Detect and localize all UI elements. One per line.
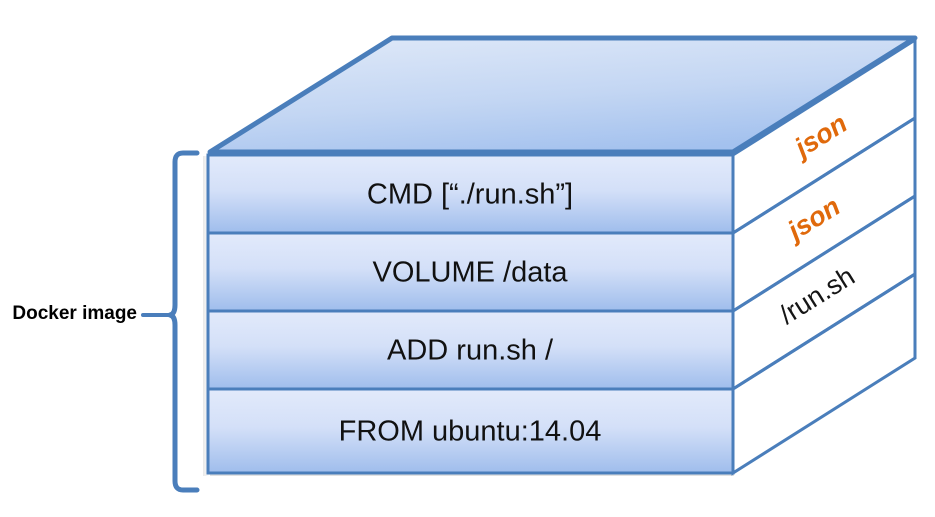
layer-label-from: FROM ubuntu:14.04 (339, 416, 602, 448)
side-label-add-runsh: /run.sh (774, 261, 860, 330)
layer-label-add: ADD run.sh / (387, 335, 554, 367)
layer-label-cmd: CMD [“./run.sh”] (367, 179, 573, 211)
layer-label-volume: VOLUME /data (372, 257, 568, 289)
side-label-volume-json: json (780, 191, 846, 247)
docker-image-layers-diagram: CMD [“./run.sh”] VOLUME /data ADD run.sh… (0, 0, 935, 517)
docker-image-brace (143, 153, 197, 490)
diagram-canvas: CMD [“./run.sh”] VOLUME /data ADD run.sh… (0, 0, 935, 517)
docker-image-caption: Docker image (12, 303, 137, 324)
